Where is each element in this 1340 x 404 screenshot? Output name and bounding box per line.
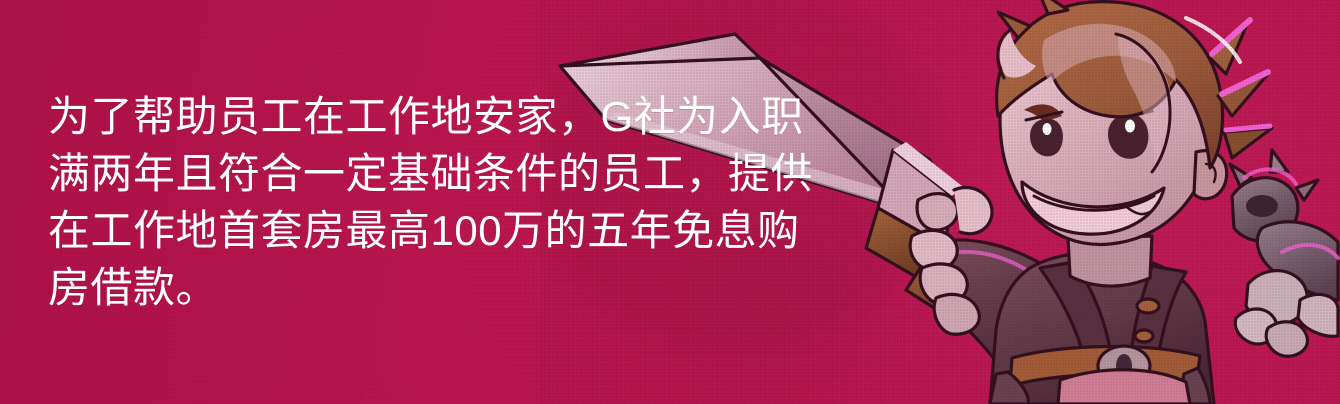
eye-right-highlight — [1125, 120, 1135, 133]
copy-line-4: 房借款。 — [48, 259, 808, 316]
copy-line-1: 为了帮助员工在工作地安家，G社为入职 — [48, 88, 808, 145]
headline-copy: 为了帮助员工在工作地安家，G社为入职 满两年且符合一定基础条件的员工，提供 在工… — [48, 88, 808, 316]
hand-thumb — [954, 187, 992, 233]
promo-banner: 为了帮助员工在工作地安家，G社为入职 满两年且符合一定基础条件的员工，提供 在工… — [0, 0, 1340, 404]
hair-spike-right-3 — [1224, 128, 1272, 158]
hand-finger-1 — [917, 194, 957, 230]
copy-line-2: 满两年且符合一定基础条件的员工，提供 — [48, 145, 808, 202]
hair-spike-left-2 — [1038, 0, 1068, 14]
tunic-button-2 — [1135, 330, 1153, 342]
pauldron-inset — [1246, 195, 1278, 217]
inner-shirt — [1058, 370, 1190, 404]
hand-finger-4 — [934, 294, 979, 334]
eye-left-highlight — [1043, 123, 1052, 135]
copy-line-3: 在工作地首套房最高100万的五年免息购 — [48, 202, 808, 259]
tunic-button-1 — [1137, 299, 1159, 313]
pauldron-spike-3 — [1296, 180, 1318, 200]
gauntlet-finger-2 — [1266, 322, 1307, 357]
